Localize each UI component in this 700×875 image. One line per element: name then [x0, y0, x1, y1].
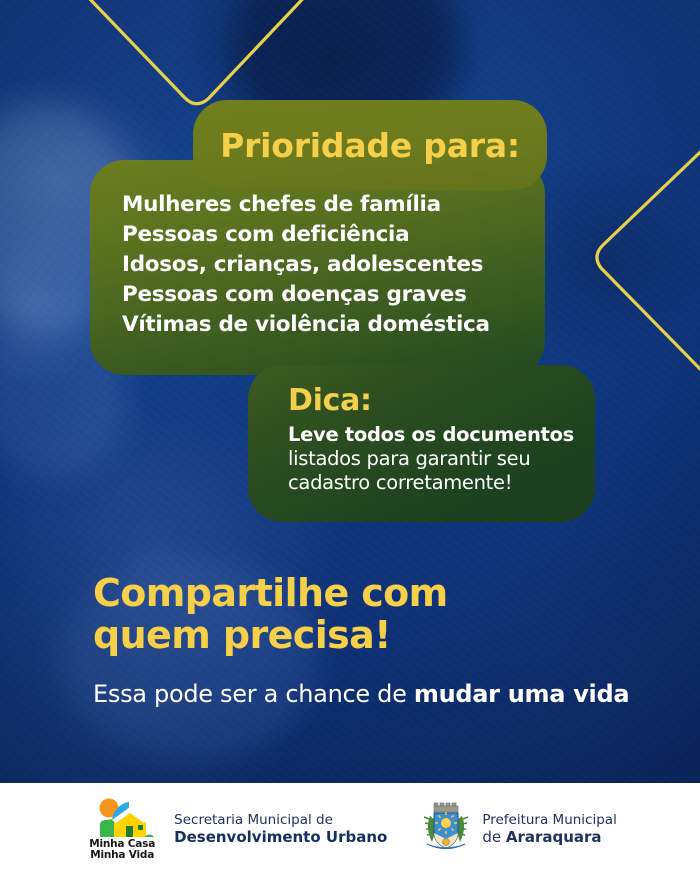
tip-line-3: cadastro corretamente!	[288, 471, 595, 495]
cta-subtext-strong: mudar uma vida	[414, 680, 629, 708]
prefeitura-line-2: de Araraquara	[482, 829, 617, 846]
secretaria-logo-group: Minha Casa Minha Vida Secretaria Municip…	[83, 797, 387, 862]
prefeitura-line-1: Prefeitura Municipal	[482, 812, 617, 829]
house-sun-logo-icon	[88, 797, 156, 837]
tip-line-1: Leve todos os documentos	[288, 423, 595, 447]
poster-root: Mulheres chefes de família Pessoas com d…	[0, 0, 700, 875]
cta-subtext-prefix: Essa pode ser a chance de	[93, 680, 414, 708]
araraquara-coat-of-arms-icon	[423, 802, 469, 857]
list-item: Vítimas de violência doméstica	[122, 310, 545, 340]
prefeitura-city: Araraquara	[506, 828, 602, 846]
footer-bar: Minha Casa Minha Vida Secretaria Municip…	[0, 783, 700, 875]
prefeitura-line-2-prefix: de	[482, 828, 506, 846]
list-item: Mulheres chefes de família	[122, 190, 545, 220]
tip-body: Leve todos os documentos listados para g…	[288, 423, 595, 495]
prefeitura-wordmark: Prefeitura Municipal de Araraquara	[482, 812, 617, 846]
call-to-action: Compartilhe com quem precisa! Essa pode …	[93, 572, 633, 709]
mcmv-line-2: Minha Vida	[89, 850, 155, 862]
list-item: Pessoas com deficiência	[122, 220, 545, 250]
list-item: Pessoas com doenças graves	[122, 280, 545, 310]
minha-casa-minha-vida-logo: Minha Casa Minha Vida	[83, 797, 161, 862]
tip-heading: Dica:	[288, 383, 595, 419]
prefeitura-logo-group: Prefeitura Municipal de Araraquara	[423, 802, 617, 857]
cta-heading: Compartilhe com quem precisa!	[93, 572, 523, 656]
tip-line-2: listados para garantir seu	[288, 447, 595, 471]
tip-card: Dica: Leve todos os documentos listados …	[248, 365, 595, 522]
page-title: Prioridade para:	[220, 126, 520, 165]
cta-subtext: Essa pode ser a chance de mudar uma vida	[93, 679, 633, 709]
secretaria-wordmark: Secretaria Municipal de Desenvolvimento …	[174, 812, 387, 846]
priority-list-card: Mulheres chefes de família Pessoas com d…	[90, 160, 545, 375]
secretaria-line-1: Secretaria Municipal de	[174, 812, 387, 829]
secretaria-line-2: Desenvolvimento Urbano	[174, 829, 387, 846]
minha-casa-minha-vida-wordmark: Minha Casa Minha Vida	[89, 839, 155, 862]
list-item: Idosos, crianças, adolescentes	[122, 250, 545, 280]
priority-title-card: Prioridade para:	[193, 100, 547, 190]
